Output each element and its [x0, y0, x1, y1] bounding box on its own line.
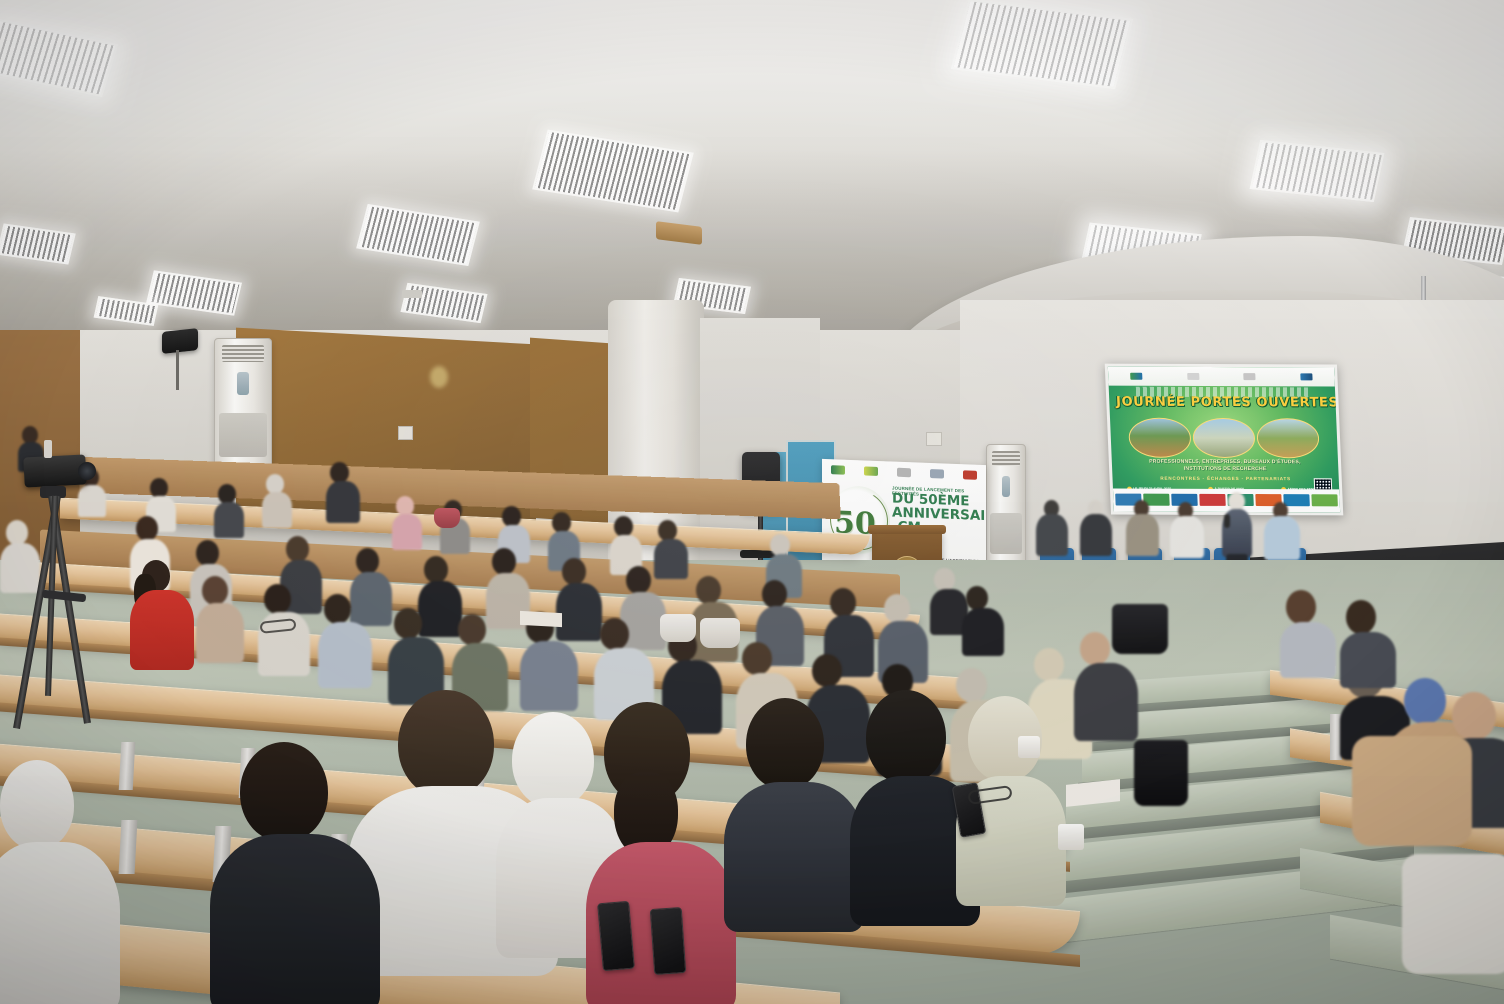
head-with-white-headscarf	[512, 712, 594, 808]
banner-logo	[831, 465, 845, 475]
head	[966, 586, 988, 610]
ac-grille	[992, 451, 1021, 466]
torso	[724, 782, 864, 932]
white-handbag	[660, 614, 696, 642]
head-with-dark-headscarf	[866, 690, 946, 784]
torso	[210, 834, 380, 1004]
slide-logo	[1187, 373, 1199, 380]
slide-tagline: RENCONTRES · ÉCHANGES · PARTENARIATS	[1121, 476, 1329, 482]
head	[264, 584, 291, 614]
torso	[1280, 622, 1336, 678]
head	[746, 698, 824, 790]
head	[492, 548, 516, 575]
slide-header-logos	[1108, 367, 1335, 387]
slide-photo-strip	[1128, 419, 1320, 457]
beige-coat-torso	[1352, 736, 1472, 846]
torso	[78, 485, 106, 517]
head-with-blue-headscarf	[1404, 678, 1446, 724]
wall-socket	[398, 426, 413, 440]
camera-lens-icon	[78, 462, 96, 480]
ac-display	[1002, 476, 1010, 497]
torso	[0, 842, 120, 1004]
head-with-white-cap	[0, 760, 74, 850]
panelist-body	[1080, 514, 1112, 556]
speaker-bracket	[176, 350, 179, 390]
paper-cup	[1018, 736, 1040, 758]
slide-photo	[1256, 418, 1320, 458]
head	[658, 520, 677, 541]
head	[398, 690, 494, 798]
head	[934, 568, 955, 591]
slide-logo	[1130, 373, 1142, 380]
panelist-body	[1264, 516, 1300, 560]
torso	[418, 581, 462, 637]
head-with-headscarf	[6, 520, 28, 545]
torso	[520, 641, 578, 711]
head	[136, 516, 158, 541]
wall-speaker	[162, 328, 198, 354]
ac-lower-panel	[990, 513, 1022, 553]
ac-lower-panel	[219, 413, 266, 457]
torso	[262, 492, 292, 528]
air-conditioner-unit	[214, 338, 272, 468]
torso	[326, 481, 360, 523]
torso	[962, 608, 1004, 656]
torso	[1402, 854, 1504, 974]
head-with-headscarf	[266, 474, 284, 494]
slide-subhead-line2: INSTITUTIONS DE RECHERCHE	[1121, 466, 1329, 474]
head	[830, 588, 856, 617]
head	[696, 576, 721, 604]
ac-display	[237, 372, 248, 395]
camera-mic	[44, 440, 52, 458]
wall-socket	[926, 432, 942, 446]
banner-logo	[897, 467, 911, 477]
head	[812, 654, 842, 687]
presentation-slide: JOURNÉE PORTES OUVERTES PROFESSIONNELS, …	[1108, 367, 1340, 513]
white-handbag	[700, 618, 740, 648]
smartphone[interactable]	[650, 907, 687, 975]
head	[502, 506, 521, 527]
banner-logo	[864, 466, 878, 476]
slide-subhead: PROFESSIONNELS, ENTREPRISES, BUREAUX D'É…	[1121, 459, 1330, 474]
sponsor-logo	[1199, 494, 1226, 506]
panelist-body	[1036, 514, 1068, 556]
smoke-detector	[402, 290, 422, 298]
podium-top	[868, 525, 946, 534]
head	[884, 594, 910, 623]
torso	[196, 603, 244, 663]
torso	[214, 502, 244, 538]
head-with-headscarf	[956, 668, 987, 702]
slide-logo	[1243, 373, 1255, 380]
head-with-cap	[770, 534, 790, 556]
head	[742, 642, 772, 675]
head	[286, 536, 309, 562]
red-jacket-torso	[130, 590, 194, 670]
head	[552, 512, 571, 533]
backpack	[1112, 604, 1168, 654]
torso	[0, 543, 40, 593]
desk-support-leg	[119, 742, 136, 790]
head-with-headscarf	[1034, 648, 1064, 681]
head-bald	[1080, 632, 1110, 665]
head	[356, 548, 379, 574]
head	[1286, 590, 1316, 624]
head	[600, 618, 629, 650]
head-with-cap	[458, 614, 486, 645]
slide-photo	[1128, 418, 1192, 458]
slide-logo	[1300, 373, 1312, 380]
head	[626, 566, 651, 594]
head-bald	[1452, 692, 1496, 740]
torso	[392, 514, 422, 550]
lecture-hall-photo: JOURNÉE PORTES OUVERTES PROFESSIONNELS, …	[0, 0, 1504, 1004]
head	[614, 516, 633, 537]
air-conditioner-unit	[986, 444, 1026, 564]
torso	[318, 622, 372, 688]
head	[424, 556, 448, 583]
ac-grille	[222, 345, 265, 362]
head	[240, 742, 328, 842]
head	[394, 608, 422, 639]
wall-stain	[430, 366, 448, 388]
head	[324, 594, 351, 624]
torso	[1340, 632, 1396, 688]
smartphone[interactable]	[597, 901, 635, 972]
slide-photo	[1192, 418, 1256, 458]
head	[196, 540, 219, 566]
head	[218, 484, 236, 504]
banner-logo-row	[822, 462, 986, 482]
panelist-body	[1126, 514, 1159, 556]
desk-support-leg	[119, 820, 138, 874]
head	[762, 580, 787, 608]
torso	[654, 539, 688, 579]
sponsor-logo	[1283, 495, 1310, 507]
head	[150, 478, 168, 498]
head	[1346, 600, 1376, 634]
backpack	[1134, 740, 1188, 806]
head	[396, 496, 414, 516]
paper-sheet	[520, 611, 562, 627]
microphone-icon	[1224, 514, 1230, 528]
panelist-body	[1170, 516, 1204, 558]
torso	[1074, 663, 1138, 741]
slide-event-title: JOURNÉE PORTES OUVERTES	[1116, 394, 1329, 410]
sponsor-logo	[1311, 495, 1338, 507]
projection-screen: JOURNÉE PORTES OUVERTES PROFESSIONNELS, …	[1105, 364, 1344, 516]
banner-logo	[963, 470, 977, 480]
head	[330, 462, 349, 483]
torso	[350, 572, 392, 626]
torso	[556, 583, 602, 641]
paper-cup	[1058, 824, 1084, 850]
head	[562, 558, 586, 585]
banner-logo	[930, 468, 944, 478]
head	[202, 576, 228, 605]
red-handbag	[434, 508, 460, 528]
